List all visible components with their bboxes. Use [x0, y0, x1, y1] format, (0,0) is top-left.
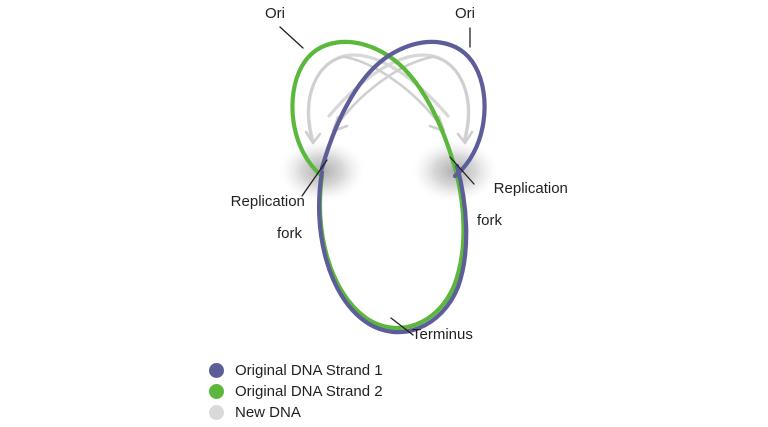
legend-label-strand-2: Original DNA Strand 2 — [235, 383, 383, 400]
callout-fork-left-line2: fork — [214, 226, 302, 242]
callout-replication-fork-right: Replication fork — [477, 165, 577, 261]
leader-ori-left — [280, 27, 303, 48]
legend-label-new-dna: New DNA — [235, 404, 301, 421]
callout-terminus: Terminus — [412, 327, 473, 343]
legend-swatch-strand-2 — [209, 384, 224, 399]
callout-fork-right-line1: Replication — [494, 180, 568, 197]
legend-label-strand-1: Original DNA Strand 1 — [235, 362, 383, 379]
legend-item-strand-2: Original DNA Strand 2 — [209, 381, 439, 401]
callout-fork-left-line1: Replication — [231, 193, 305, 210]
fork-glow-group — [277, 138, 500, 204]
legend: Original DNA Strand 1 Original DNA Stran… — [209, 360, 439, 423]
legend-item-new-dna: New DNA — [209, 402, 439, 422]
callout-ori-left: Ori — [265, 6, 285, 22]
legend-swatch-new-dna — [209, 405, 224, 420]
legend-swatch-strand-1 — [209, 363, 224, 378]
figure-root: Ori Ori Replication fork Replication for… — [0, 0, 768, 427]
replication-direction-arrows — [306, 57, 472, 143]
legend-item-strand-1: Original DNA Strand 1 — [209, 360, 439, 380]
callout-fork-right-line2: fork — [477, 213, 577, 229]
new-dna-group — [309, 55, 469, 141]
callout-ori-right: Ori — [455, 6, 475, 22]
callout-replication-fork-left: Replication fork — [214, 178, 302, 274]
